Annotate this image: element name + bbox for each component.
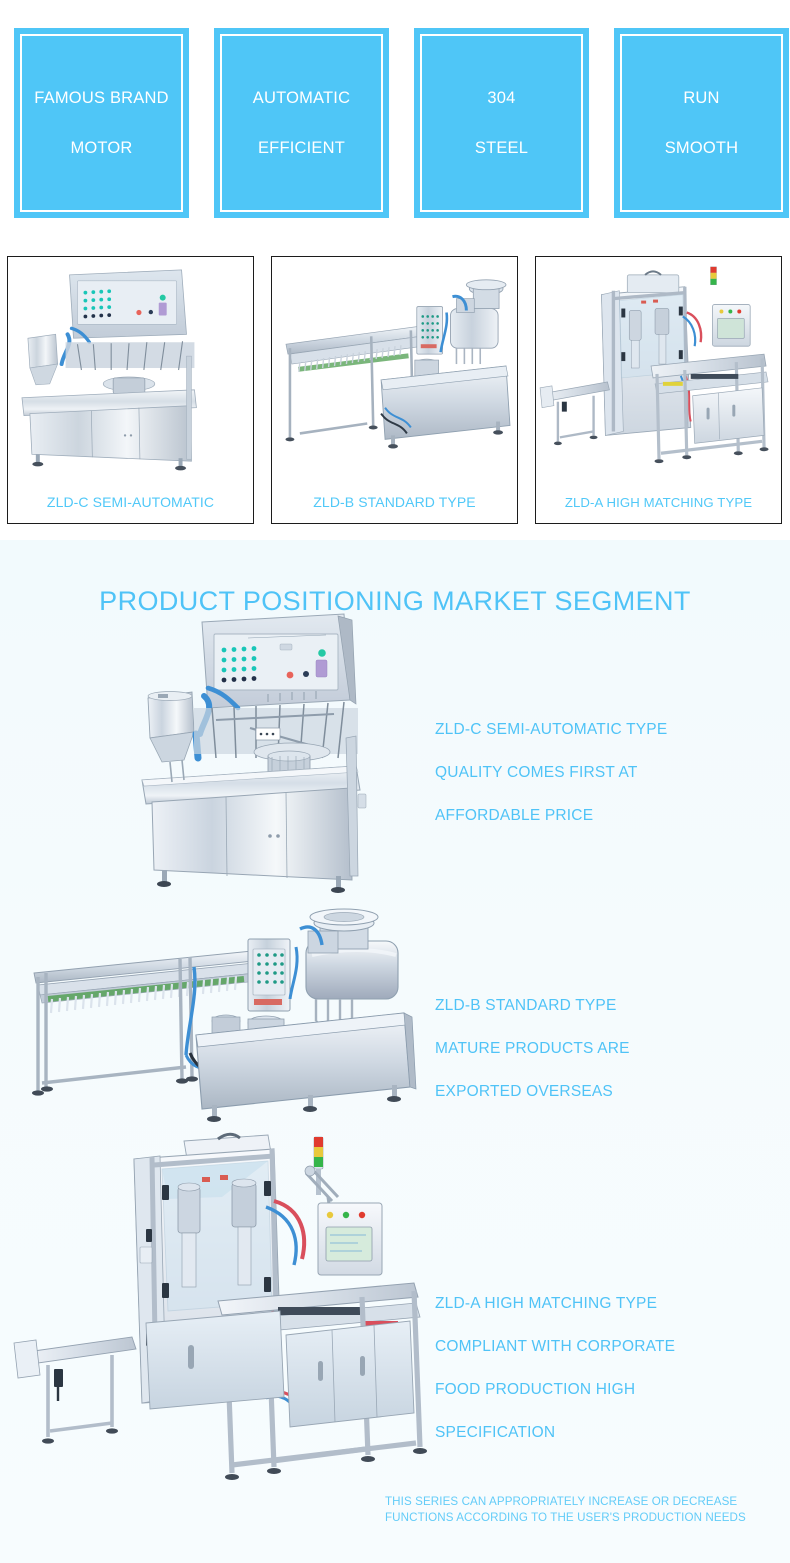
product-line: COMPLIANT WITH CORPORATE	[435, 1325, 675, 1368]
feature-inner-frame: 304 STEEL	[420, 34, 583, 212]
product-line: ZLD-C SEMI-AUTOMATIC TYPE	[435, 708, 667, 751]
feature-label-line1: 304	[487, 90, 515, 107]
feature-inner-frame: AUTOMATIC EFFICIENT	[220, 34, 383, 212]
product-line: SPECIFICATION	[435, 1411, 675, 1454]
thumbnail-image-zld-a	[536, 257, 781, 481]
section-footnote: THIS SERIES CAN APPROPRIATELY INCREASE O…	[385, 1494, 785, 1526]
product-line: ZLD-A HIGH MATCHING TYPE	[435, 1282, 675, 1325]
product-text-zld-b: ZLD-B STANDARD TYPE MATURE PRODUCTS ARE …	[435, 984, 630, 1113]
feature-label-line1: RUN	[683, 90, 719, 107]
product-line: FOOD PRODUCTION HIGH	[435, 1368, 675, 1411]
feature-highlight-strip: FAMOUS BRAND MOTOR AUTOMATIC EFFICIENT 3…	[0, 0, 790, 240]
product-thumbnail-row: ZLD-C SEMI-AUTOMATIC	[0, 240, 790, 540]
thumbnail-caption-zld-a: ZLD-A HIGH MATCHING TYPE	[536, 481, 781, 523]
feature-box-304-steel: 304 STEEL	[414, 28, 589, 218]
thumbnail-caption-zld-c: ZLD-C SEMI-AUTOMATIC	[8, 481, 253, 523]
product-image-zld-b	[20, 895, 420, 1125]
section-title: PRODUCT POSITIONING MARKET SEGMENT	[0, 540, 790, 617]
product-line: ZLD-B STANDARD TYPE	[435, 984, 630, 1027]
thumbnail-image-zld-c	[8, 257, 253, 481]
feature-label-line1: AUTOMATIC	[253, 90, 350, 107]
feature-box-famous-brand-motor: FAMOUS BRAND MOTOR	[14, 28, 189, 218]
product-image-zld-a	[10, 1125, 440, 1505]
feature-label-line2: STEEL	[475, 140, 528, 157]
thumbnail-card-zld-c[interactable]: ZLD-C SEMI-AUTOMATIC	[7, 256, 254, 524]
feature-box-automatic-efficient: AUTOMATIC EFFICIENT	[214, 28, 389, 218]
product-image-zld-c	[130, 608, 420, 908]
thumbnail-card-zld-b[interactable]: ZLD-B STANDARD TYPE	[271, 256, 518, 524]
product-text-zld-c: ZLD-C SEMI-AUTOMATIC TYPE QUALITY COMES …	[435, 708, 667, 837]
product-line: AFFORDABLE PRICE	[435, 794, 667, 837]
product-line: EXPORTED OVERSEAS	[435, 1070, 630, 1113]
feature-label-line2: EFFICIENT	[258, 140, 345, 157]
product-line: QUALITY COMES FIRST AT	[435, 751, 667, 794]
thumbnail-card-zld-a[interactable]: ZLD-A HIGH MATCHING TYPE	[535, 256, 782, 524]
product-line: MATURE PRODUCTS ARE	[435, 1027, 630, 1070]
feature-label-line1: FAMOUS BRAND	[34, 90, 168, 107]
footnote-line-2: FUNCTIONS ACCORDING TO THE USER'S PRODUC…	[385, 1510, 785, 1526]
footnote-line-1: THIS SERIES CAN APPROPRIATELY INCREASE O…	[385, 1494, 785, 1510]
feature-inner-frame: RUN SMOOTH	[620, 34, 783, 212]
product-text-zld-a: ZLD-A HIGH MATCHING TYPE COMPLIANT WITH …	[435, 1282, 675, 1454]
feature-inner-frame: FAMOUS BRAND MOTOR	[20, 34, 183, 212]
feature-label-line2: MOTOR	[70, 140, 132, 157]
feature-label-line2: SMOOTH	[665, 140, 739, 157]
thumbnail-image-zld-b	[272, 257, 517, 481]
thumbnail-caption-zld-b: ZLD-B STANDARD TYPE	[272, 481, 517, 523]
feature-box-run-smooth: RUN SMOOTH	[614, 28, 789, 218]
